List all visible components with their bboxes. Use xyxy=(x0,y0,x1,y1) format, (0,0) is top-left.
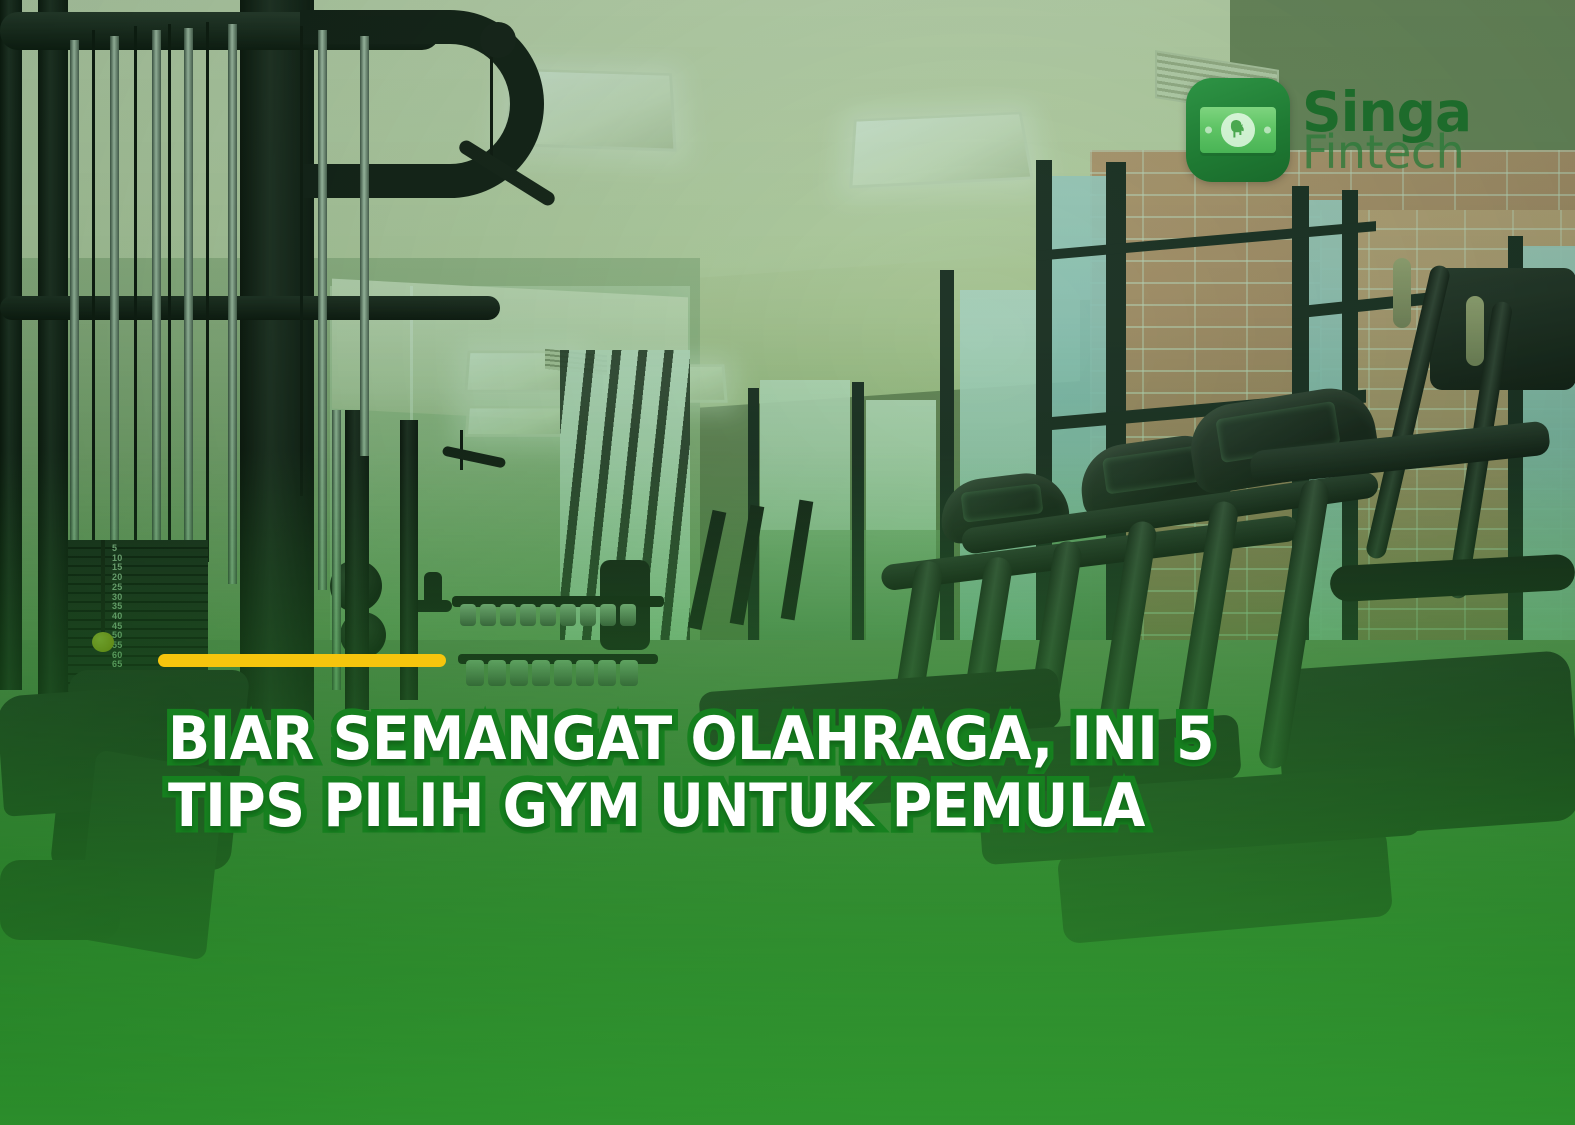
banknote-lion-icon xyxy=(1186,78,1290,182)
yellow-accent-bar xyxy=(158,654,446,667)
page-title: BIAR SEMANGAT OLAHRAGA, INI 5 TIPS PILIH… xyxy=(168,706,1198,840)
banknote-shape xyxy=(1200,107,1276,153)
brand-name-secondary: Fintech xyxy=(1302,132,1471,172)
brand-wordmark: Singa Fintech xyxy=(1302,88,1471,173)
lion-medallion xyxy=(1221,113,1255,147)
headline-line-1: BIAR SEMANGAT OLAHRAGA, INI 5 xyxy=(168,706,1198,773)
headline-line-2: TIPS PILIH GYM UNTUK PEMULA xyxy=(168,773,1198,840)
promo-banner: 5 10 15 20 25 30 35 40 45 50 55 60 65 70… xyxy=(0,0,1575,1125)
lion-glyph xyxy=(1225,117,1251,143)
brand-logo[interactable]: Singa Fintech xyxy=(1186,72,1486,188)
